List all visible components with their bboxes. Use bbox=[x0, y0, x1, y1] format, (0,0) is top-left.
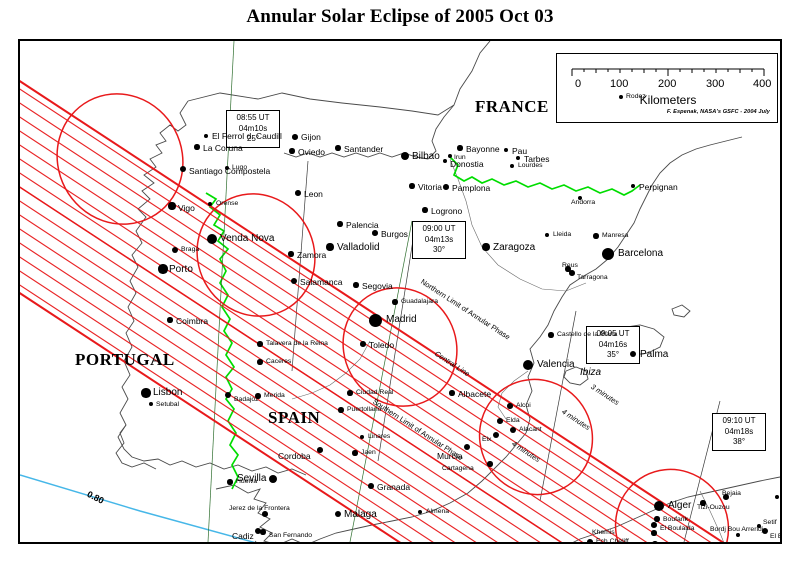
city-dot bbox=[289, 148, 294, 153]
city-label: Talavera de la Reina bbox=[266, 341, 328, 348]
city-dot bbox=[207, 234, 217, 244]
city-dot bbox=[225, 392, 231, 398]
scale-tick-400: 400 bbox=[753, 78, 771, 90]
city-dot bbox=[487, 461, 492, 466]
city-dot bbox=[168, 202, 175, 209]
page-title: Annular Solar Eclipse of 2005 Oct 03 bbox=[0, 6, 800, 28]
city-label: Braga bbox=[181, 247, 199, 254]
city-dot bbox=[368, 483, 374, 489]
city-dot bbox=[288, 251, 293, 256]
city-label: El Ferrol d. Caudill bbox=[212, 132, 282, 141]
time-box-0900-alt: 30° bbox=[417, 245, 461, 256]
time-box-0905-dur: 04m16s bbox=[591, 340, 635, 351]
city-label: Almena bbox=[426, 509, 449, 516]
city-label: Elx bbox=[482, 437, 491, 444]
city-label: Linares bbox=[368, 434, 390, 441]
city-dot bbox=[257, 341, 262, 346]
city-label: Palencia bbox=[346, 221, 379, 230]
city-label: Santander bbox=[344, 145, 383, 154]
city-dot bbox=[654, 516, 659, 521]
city-label: Puertollano bbox=[347, 407, 381, 414]
city-dot bbox=[260, 529, 265, 534]
city-label: Ech Cheliff bbox=[596, 539, 629, 544]
city-label: Andorra bbox=[571, 200, 595, 207]
city-label: Oviedo bbox=[298, 148, 325, 157]
city-label: Cartagena bbox=[442, 466, 474, 473]
city-dot bbox=[482, 243, 489, 250]
city-dot bbox=[295, 543, 301, 544]
city-label: Jaen bbox=[361, 450, 376, 457]
city-dot bbox=[510, 427, 516, 433]
city-dot bbox=[392, 299, 397, 304]
city-dot bbox=[141, 388, 150, 397]
city-label: El Eulma bbox=[770, 534, 782, 541]
city-label: Malaga bbox=[344, 510, 377, 520]
city-label: El Boulaida bbox=[660, 526, 694, 533]
city-dot bbox=[337, 221, 342, 226]
city-label: Zamora bbox=[297, 251, 326, 260]
city-dot bbox=[158, 264, 167, 273]
country-label-spain: SPAIN bbox=[268, 409, 320, 426]
scale-tick-300: 300 bbox=[706, 78, 724, 90]
city-label: Cadiz bbox=[232, 532, 254, 541]
city-label: Palma bbox=[640, 350, 668, 360]
city-label: Barcelona bbox=[618, 249, 663, 259]
city-label: Cordoba bbox=[278, 452, 311, 461]
city-label: Tarragona bbox=[577, 275, 608, 282]
city-label: Lisbon bbox=[153, 388, 182, 398]
city-dot bbox=[172, 247, 178, 253]
time-box-0910: 09:10 UT 04m18s 38° bbox=[712, 413, 766, 451]
country-label-france: FRANCE bbox=[475, 98, 549, 115]
city-dot bbox=[257, 359, 262, 364]
city-label: Segovia bbox=[362, 282, 393, 291]
city-label: Burgos bbox=[381, 230, 408, 239]
city-label: Setif bbox=[763, 520, 777, 527]
city-label: Huelva bbox=[236, 479, 257, 486]
city-label: Pamplona bbox=[452, 184, 490, 193]
scale-tick-200: 200 bbox=[658, 78, 676, 90]
city-label: Perpignan bbox=[639, 183, 678, 192]
city-dot bbox=[292, 134, 298, 140]
city-label: Madrid bbox=[386, 315, 417, 325]
credit-label: F. Espenak, NASA's GSFC - 2004 July bbox=[667, 109, 770, 115]
city-label: Vitoria bbox=[418, 183, 442, 192]
city-dot bbox=[409, 183, 414, 188]
city-label: Leon bbox=[304, 190, 323, 199]
time-box-0910-alt: 38° bbox=[717, 437, 761, 448]
city-dot bbox=[227, 479, 232, 484]
time-box-0910-ut: 09:10 UT bbox=[717, 416, 761, 427]
city-dot bbox=[352, 450, 357, 455]
city-label: Lourdes bbox=[518, 163, 543, 170]
city-label: Granada bbox=[377, 483, 410, 492]
city-dot bbox=[422, 207, 427, 212]
time-box-0900: 09:00 UT 04m13s 30° bbox=[412, 221, 466, 259]
scale-unit-label: Kilometers bbox=[557, 93, 779, 107]
time-box-0900-ut: 09:00 UT bbox=[417, 224, 461, 235]
time-box-0855-ut: 08:55 UT bbox=[231, 113, 275, 124]
city-dot bbox=[651, 530, 656, 535]
city-label: Murcia bbox=[437, 452, 463, 461]
country-label-portugal: PORTUGAL bbox=[75, 351, 175, 368]
city-label: Rodez bbox=[626, 94, 646, 101]
city-dot bbox=[652, 541, 657, 544]
city-label: Ciudad Real bbox=[356, 390, 393, 397]
city-dot bbox=[369, 314, 382, 327]
city-dot bbox=[326, 243, 333, 250]
city-label: Bayonne bbox=[466, 145, 500, 154]
city-label: Caceres bbox=[266, 359, 291, 366]
city-label: Valladolid bbox=[337, 243, 380, 253]
city-label: Castello de la Plana bbox=[557, 332, 617, 339]
city-dot bbox=[401, 152, 409, 160]
city-dot bbox=[493, 432, 499, 438]
city-label: Toledo bbox=[369, 341, 394, 350]
city-label: Bordj Bou Arreridj bbox=[710, 527, 763, 534]
eclipse-map-page: Annular Solar Eclipse of 2005 Oct 03 bbox=[0, 0, 800, 561]
city-label: Coimbra bbox=[176, 317, 208, 326]
city-label: Salamanca bbox=[300, 278, 343, 287]
city-dot bbox=[335, 145, 340, 150]
city-label: Lleida bbox=[553, 232, 571, 239]
city-dot bbox=[651, 522, 657, 528]
city-dot bbox=[457, 145, 462, 150]
city-dot bbox=[448, 154, 452, 158]
city-label: Bejaia bbox=[722, 491, 741, 498]
city-label: Venda Nova bbox=[220, 234, 275, 244]
city-dot bbox=[507, 403, 513, 409]
city-label: Alger bbox=[668, 501, 691, 511]
city-label: Lugo bbox=[232, 165, 247, 172]
city-dot bbox=[295, 190, 301, 196]
city-dot bbox=[360, 341, 366, 347]
city-label: Badajoz bbox=[234, 397, 259, 404]
city-label: San Fernando bbox=[269, 533, 312, 540]
city-dot bbox=[443, 184, 449, 190]
city-label: Tizi-Ouzou bbox=[697, 505, 730, 512]
city-label: Alacant bbox=[519, 427, 542, 434]
city-label: Vigo bbox=[178, 204, 195, 213]
city-label: Merida bbox=[264, 393, 285, 400]
scale-ticks bbox=[571, 68, 765, 77]
scale-tick-100: 100 bbox=[610, 78, 628, 90]
city-label: Jerez de la Frontera bbox=[229, 506, 290, 513]
city-dot bbox=[317, 447, 323, 453]
city-dot bbox=[602, 248, 614, 260]
city-label: Khemis bbox=[592, 530, 615, 537]
scale-tick-0: 0 bbox=[575, 78, 581, 90]
city-label: Donostia bbox=[450, 160, 484, 169]
city-label: Reus bbox=[562, 263, 578, 270]
city-label: Guadalajara bbox=[401, 299, 438, 306]
time-box-0905-alt: 35° bbox=[591, 350, 635, 361]
city-dot bbox=[353, 282, 358, 287]
time-box-0900-dur: 04m13s bbox=[417, 235, 461, 246]
city-dot bbox=[548, 332, 553, 337]
city-dot bbox=[593, 233, 598, 238]
city-label: Zaragoza bbox=[493, 243, 535, 253]
city-label: Valencia bbox=[537, 360, 575, 370]
city-label: Orense bbox=[216, 201, 238, 208]
city-dot bbox=[180, 166, 186, 172]
map-canvas: 0 100 200 300 400 Kilometers F. Espenak,… bbox=[18, 39, 782, 544]
city-label: La Coruna bbox=[203, 144, 243, 153]
city-dot bbox=[497, 418, 503, 424]
city-dot bbox=[510, 164, 514, 168]
city-dot bbox=[449, 390, 454, 395]
city-label: Santiago Compostela bbox=[189, 167, 270, 176]
city-label: Boufarik bbox=[663, 517, 688, 524]
island-label-ibiza: Ibiza bbox=[580, 368, 601, 378]
scale-tick-labels: 0 100 200 300 400 bbox=[565, 78, 771, 92]
city-dot bbox=[372, 230, 378, 236]
city-label: Porto bbox=[169, 265, 193, 275]
city-dot bbox=[569, 270, 575, 276]
city-dot bbox=[338, 407, 343, 412]
time-box-0855: 08:55 UT 04m10s 25° bbox=[226, 110, 280, 148]
city-dot bbox=[587, 539, 593, 544]
city-label: Bilbao bbox=[412, 152, 440, 162]
city-label: Gijon bbox=[301, 133, 321, 142]
time-box-0910-dur: 04m18s bbox=[717, 427, 761, 438]
city-dot bbox=[194, 144, 199, 149]
city-dot bbox=[291, 278, 297, 284]
eclipse-path-layer bbox=[20, 55, 780, 542]
scale-bar: 0 100 200 300 400 Kilometers F. Espenak,… bbox=[556, 53, 778, 123]
city-label: Elda bbox=[506, 418, 520, 425]
city-dot bbox=[347, 390, 352, 395]
city-dot bbox=[167, 317, 172, 322]
city-label: Setubal bbox=[156, 402, 179, 409]
city-label: Logrono bbox=[431, 207, 462, 216]
city-label: Manresa bbox=[602, 233, 628, 240]
city-label: Alcoi bbox=[516, 403, 531, 410]
city-label: Albacete bbox=[458, 390, 491, 399]
